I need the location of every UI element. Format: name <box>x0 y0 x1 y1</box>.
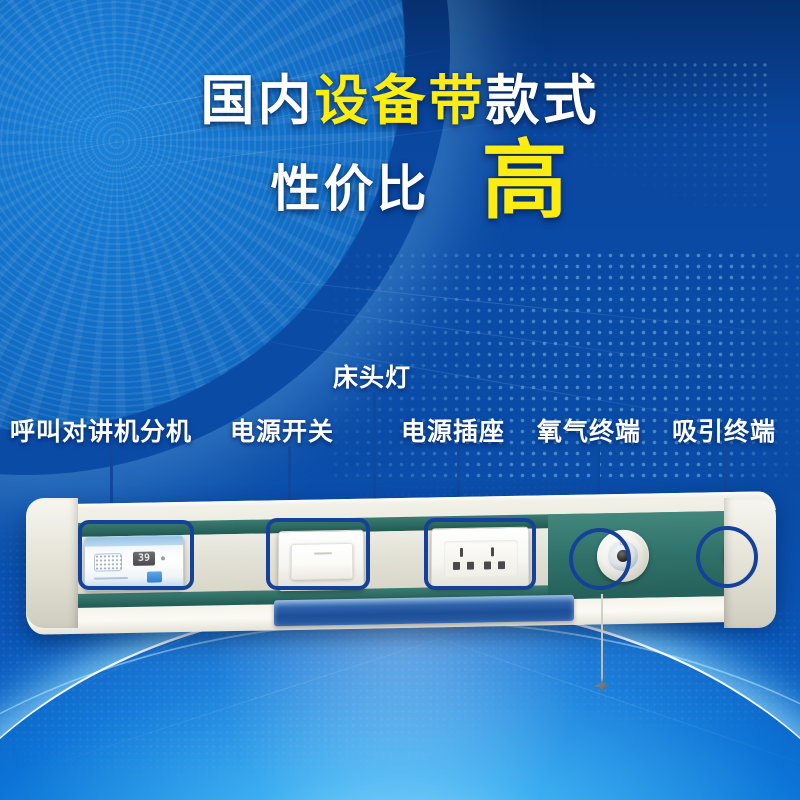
callout-label-oxygen: 氧气终端 <box>537 412 641 448</box>
headline-line-1: 国内设备带款式 <box>0 72 800 130</box>
headline-part-2: 设备带 <box>315 71 486 131</box>
callout-label-socket: 电源插座 <box>401 412 505 448</box>
panel-end-cap-left <box>26 498 78 628</box>
callout-label-suction: 吸引终端 <box>672 412 776 448</box>
headline-part-1: 国内 <box>201 71 315 131</box>
highlight-circle-oxygen <box>569 528 631 590</box>
highlight-box-intercom <box>78 520 194 590</box>
oxygen-pull-cord[interactable] <box>601 594 603 682</box>
headline-part-3: 款式 <box>486 71 600 131</box>
headline: 国内设备带款式 性价比 高 <box>0 72 800 221</box>
headline-emphasis-text: 高 <box>482 142 570 221</box>
product-banner: 国内设备带款式 性价比 高 呼叫对讲机分机 电源开关 床头灯 电源插座 氧气终端… <box>0 0 800 800</box>
bed-lamp-diffuser <box>274 595 574 626</box>
callout-label-intercom: 呼叫对讲机分机 <box>10 412 192 448</box>
callout-label-bed-lamp: 床头灯 <box>333 358 411 394</box>
highlight-box-socket <box>424 518 536 590</box>
callout-label-switch: 电源开关 <box>230 412 334 448</box>
headline-line-2: 性价比 高 <box>0 142 800 221</box>
headline-value-text: 性价比 <box>271 149 430 221</box>
highlight-box-switch <box>266 518 370 590</box>
highlight-circle-suction <box>696 526 758 588</box>
